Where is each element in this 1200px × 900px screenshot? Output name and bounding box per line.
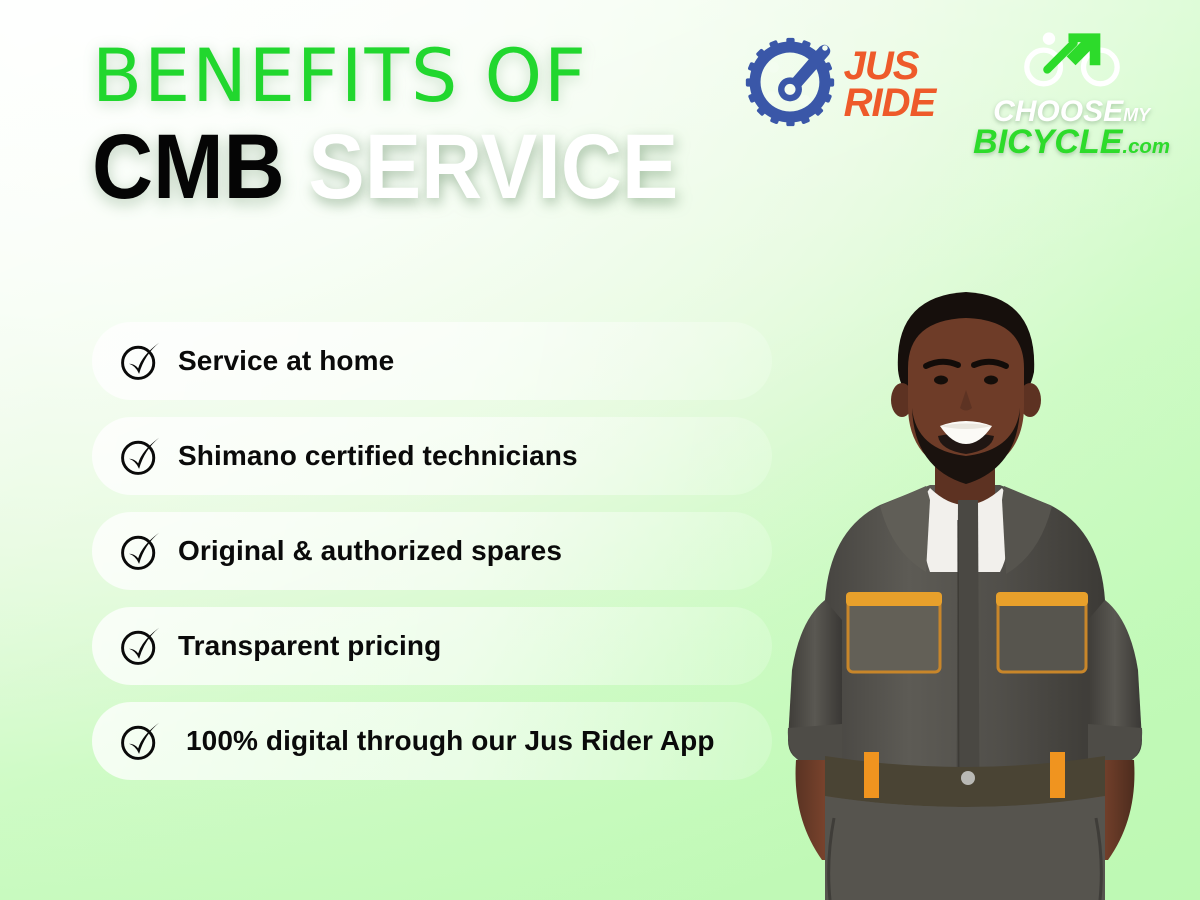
choosemybicycle-line-2: BICYCLE.com — [973, 125, 1170, 159]
bicycle-text: BICYCLE — [973, 123, 1122, 161]
page-title: BENEFITS OF CMB SERVICE — [92, 42, 729, 213]
technician-photo — [730, 200, 1200, 900]
logo-group: JUS RIDE CHOOSEMY — [744, 28, 1170, 159]
check-circle-icon — [118, 339, 162, 383]
headline-line-1: BENEFITS OF — [92, 42, 729, 111]
list-item[interactable]: 100% digital through our Jus Rider App — [92, 702, 772, 780]
check-circle-icon — [118, 719, 162, 763]
check-circle-icon — [118, 529, 162, 573]
headline-line-2: CMB SERVICE — [92, 121, 678, 213]
belt-loop-right — [1050, 752, 1065, 798]
chest-pocket-left — [846, 592, 942, 672]
chainring-crank-icon — [744, 36, 836, 133]
belt-snap — [961, 771, 975, 785]
list-item[interactable]: Shimano certified technicians — [92, 417, 772, 495]
choosemybicycle-logo[interactable]: CHOOSEMY BICYCLE.com — [973, 28, 1170, 159]
jusride-line-1: JUS — [844, 48, 936, 85]
check-circle-icon — [118, 624, 162, 668]
check-circle-icon — [118, 434, 162, 478]
dotcom-text: .com — [1122, 136, 1170, 158]
list-item[interactable]: Original & authorized spares — [92, 512, 772, 590]
chest-pocket-right — [996, 592, 1088, 672]
jusride-logo[interactable]: JUS RIDE — [744, 28, 936, 133]
list-item[interactable]: Service at home — [92, 322, 772, 400]
list-item-label: Transparent pricing — [178, 630, 441, 662]
benefits-list: Service at home Shimano certified techni… — [92, 322, 772, 797]
trousers — [825, 796, 1105, 900]
my-text: MY — [1123, 105, 1150, 125]
head — [891, 292, 1041, 484]
list-item-label: Shimano certified technicians — [178, 440, 578, 472]
poster-canvas: BENEFITS OF CMB SERVICE — [0, 0, 1200, 900]
headline-service: SERVICE — [308, 116, 678, 218]
belt-loop-left — [864, 752, 879, 798]
jusride-wordmark: JUS RIDE — [844, 48, 936, 122]
list-item[interactable]: Transparent pricing — [92, 607, 772, 685]
headline-cmb: CMB — [92, 116, 285, 218]
bicycle-arrow-icon — [1018, 28, 1126, 95]
list-item-label: 100% digital through our Jus Rider App — [186, 725, 715, 757]
list-item-label: Service at home — [178, 345, 394, 377]
jusride-line-2: RIDE — [844, 85, 936, 122]
list-item-label: Original & authorized spares — [178, 535, 562, 567]
